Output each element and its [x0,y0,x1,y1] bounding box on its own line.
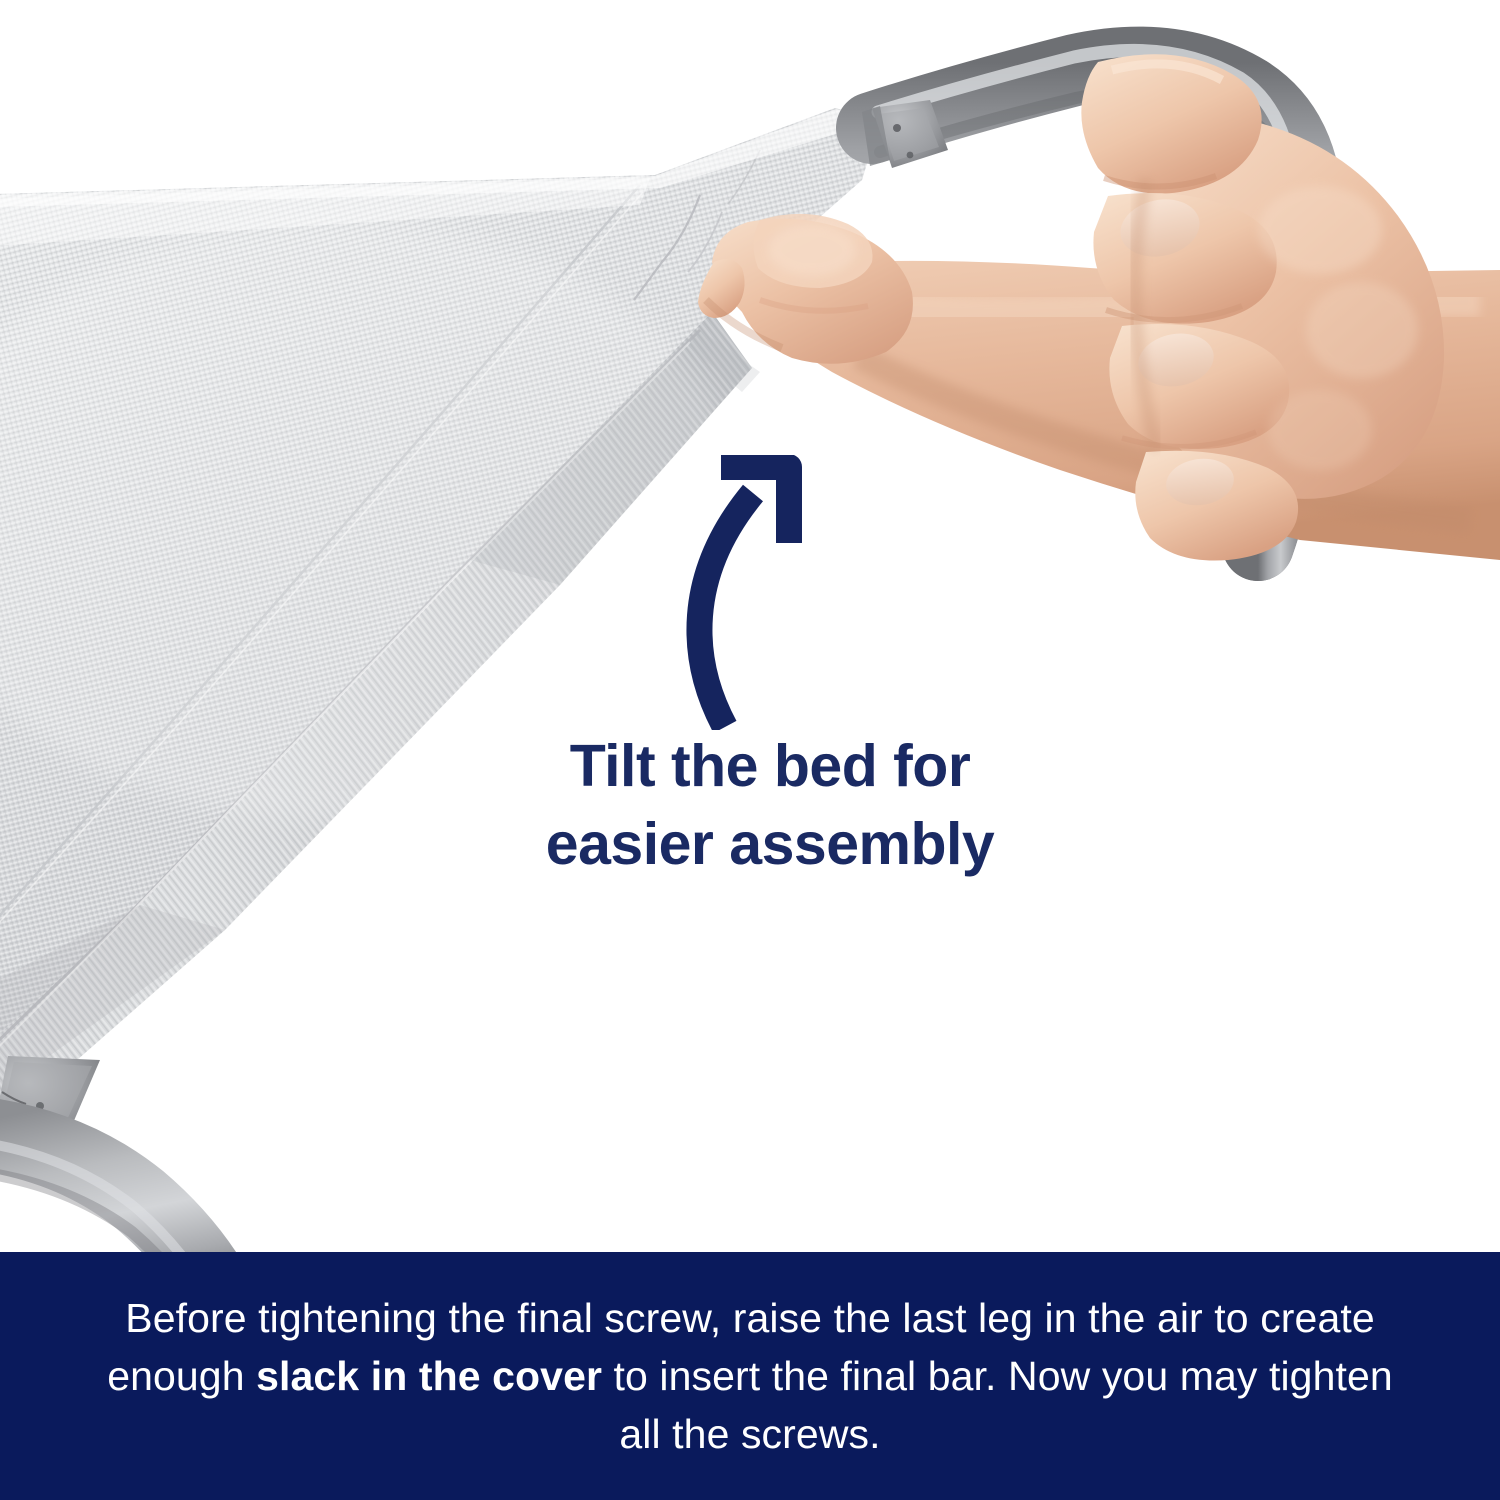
caption-emphasis: slack in the cover [256,1353,602,1399]
caption-banner: Before tightening the final screw, raise… [0,1252,1500,1500]
curved-up-right-arrow-icon [675,455,845,730]
instructional-image: Tilt the bed for easier assembly Before … [0,0,1500,1500]
caption-text: Before tightening the final screw, raise… [100,1289,1400,1464]
page-title: Tilt the bed for easier assembly [400,727,1140,884]
caption-part-2: to insert the final bar. Now you may tig… [602,1353,1393,1457]
bed-leg [0,1056,236,1252]
